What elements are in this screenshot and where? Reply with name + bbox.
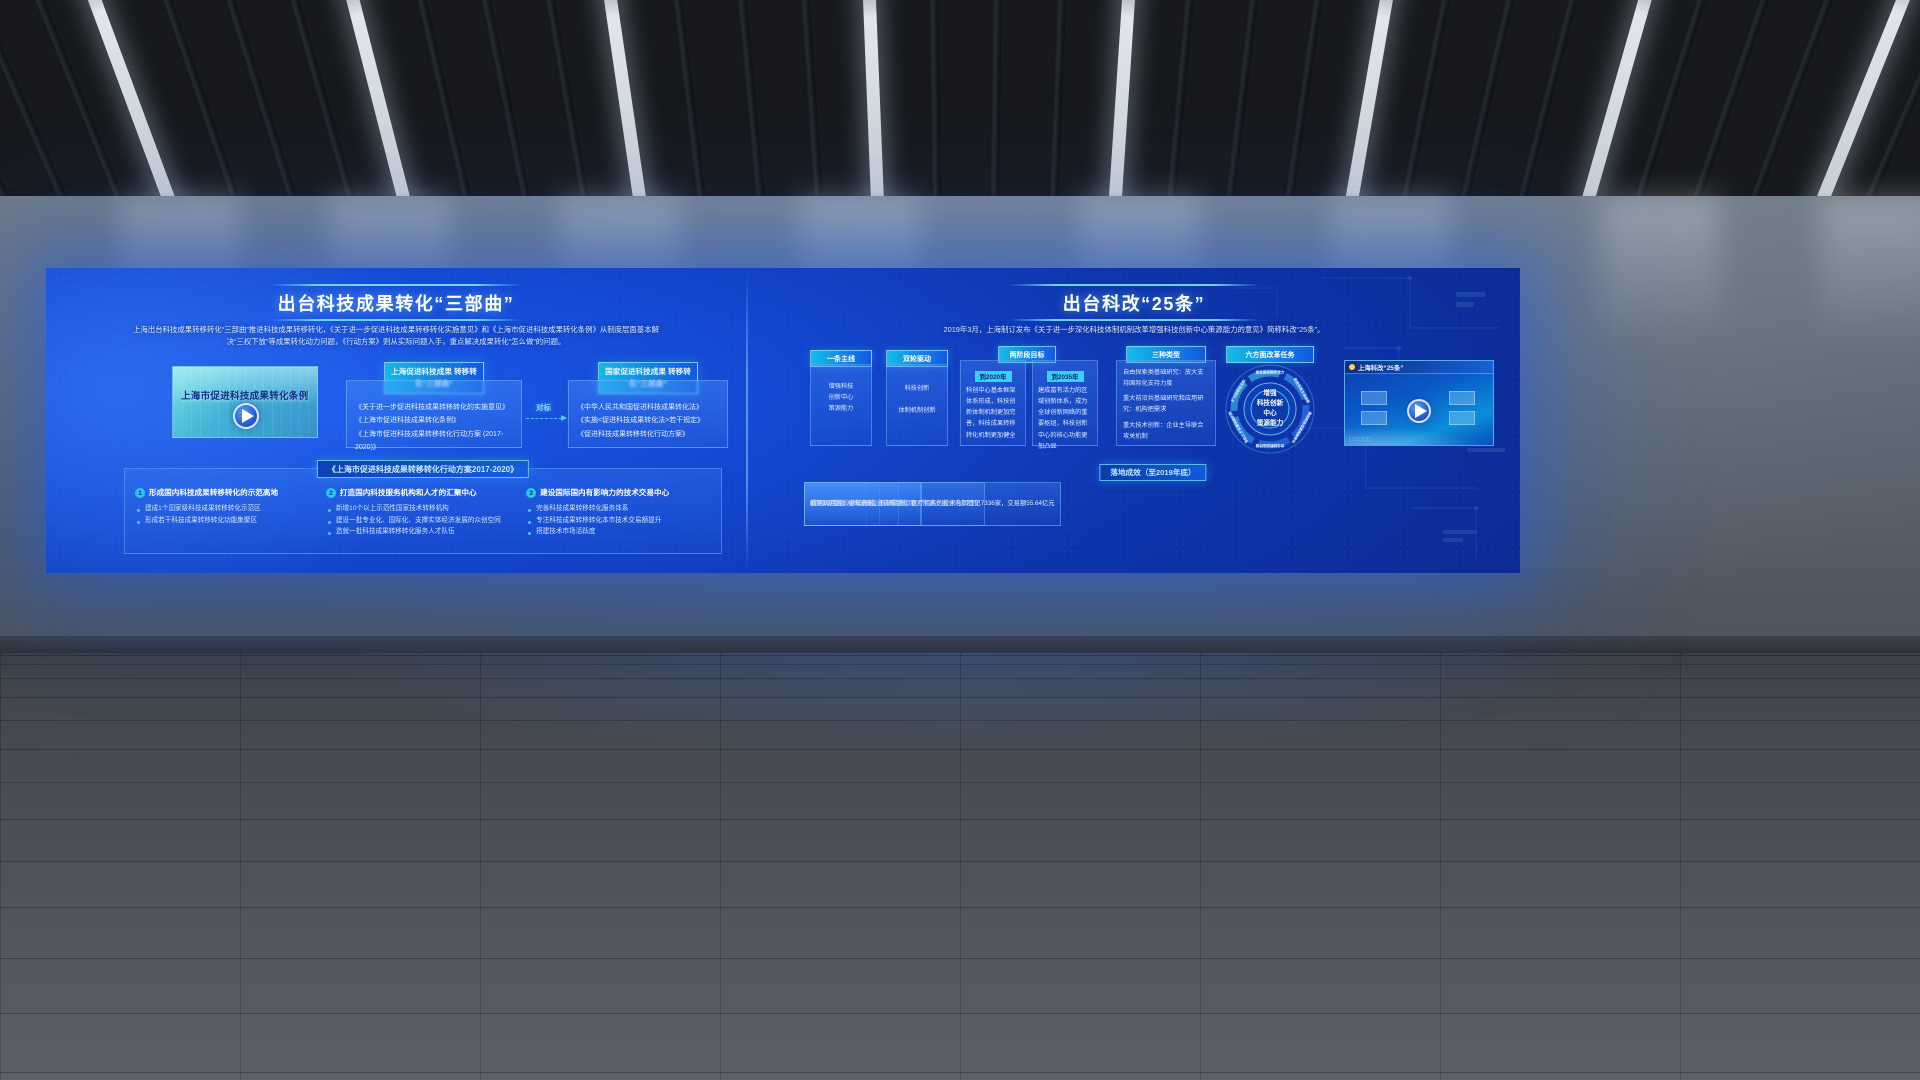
flow-box1-item: 《关于进一步促进科技成果转移转化的实施意见》	[355, 401, 513, 414]
achievements-chip: 落地成效（至2019年底）	[1099, 464, 1206, 481]
flow-box2-item: 《中华人民共和国促进科技成果转化法》	[577, 401, 719, 414]
title-rule-bottom	[271, 319, 521, 321]
video-chip-left2	[1361, 411, 1387, 425]
video-chip-right2	[1449, 411, 1475, 425]
three-types-item: 自由探索类基础研究：放大支持国际化支持力度	[1123, 367, 1209, 389]
column-box-dual-drive: 科技创新 体制机制创新	[886, 364, 948, 446]
video-corner-mark: ⬚⬚⬚⬚⬚	[1349, 436, 1372, 442]
six-tasks-caption: 六方面改革任务	[1226, 346, 1314, 363]
action-plan-item: 完善科技成果转移转化服务体系	[526, 503, 711, 515]
video-header-bar: 上海科改“25条”	[1345, 361, 1493, 374]
number-badge-icon: 1	[135, 488, 145, 498]
column-head-text: 形成国内科技成果转移转化的示范高地	[149, 488, 278, 497]
three-types-box: 自由探索类基础研究：放大支持国际化支持力度 重大前沿共基础研究和应用研究：机构把…	[1116, 360, 1216, 446]
action-plan-column-head: 2打造国内科技服务机构和人才的汇聚中心	[326, 487, 520, 498]
wall-light-streak	[1600, 196, 1720, 346]
arrow-dashed-line	[526, 418, 562, 419]
video-chip-right	[1449, 391, 1475, 405]
arrow-label-duibiao: 对标	[536, 402, 551, 413]
action-plan-item: 建设一批专业化、国际化、支撑实体经济发展的众创空间	[326, 515, 520, 527]
action-plan-column: 2打造国内科技服务机构和人才的汇聚中心 新增10个以上示范性国家技术转移机构 建…	[326, 487, 520, 538]
right-video-title: 上海科改“25条”	[1358, 363, 1403, 372]
video-chip-left	[1361, 391, 1387, 405]
floor-seam-line	[1440, 652, 1441, 1080]
panel-three-movements: 出台科技成果转化“三部曲” 上海出台科技成果转移转化“三部曲”推进科技成果转移转…	[46, 268, 746, 573]
flow-box2: 《中华人民共和国促进科技成果转化法》 《实施<促进科技成果转化法>若干规定》 《…	[568, 380, 728, 448]
floor-seam-line	[1200, 652, 1201, 1080]
floor	[0, 652, 1920, 1080]
floor-seam-line	[720, 652, 721, 1080]
floor-seam-line	[0, 652, 1, 1080]
right-panel-title: 出台科改“25条”	[748, 286, 1520, 319]
arrow-head-icon	[561, 415, 567, 421]
play-triangle-icon	[242, 409, 254, 423]
flow-box2-item: 《实施<促进科技成果转化法>若干规定》	[577, 414, 719, 427]
stage-text-2035: 建成富有活力的区域创新体系，成为全球创新网络的重要枢纽，科技创新中心的核心功能更…	[1038, 385, 1092, 452]
wall-light-streak	[1820, 196, 1920, 346]
action-plan-item: 形成若干科技成果转移转化功能集聚区	[135, 515, 320, 527]
floor-seam-line	[480, 652, 481, 1080]
flow-box2-item: 《促进科技成果转移转化行动方案》	[577, 428, 719, 441]
logo-dot-icon	[1349, 364, 1355, 370]
number-badge-icon: 3	[526, 488, 536, 498]
ring-center-label: 增强 科技创新 中心 策源能力	[1244, 389, 1296, 429]
action-plan-item: 造就一批科技成果转移转化服务人才队伍	[326, 526, 520, 538]
video-title-text: 上海市促进科技成果转化条例	[181, 388, 308, 402]
floor-seam-line	[1680, 652, 1681, 1080]
stage-tag-2020: 到2020年	[975, 371, 1012, 382]
action-plan-item: 专注科技成果转移转化本市技术交易额提升	[526, 515, 711, 527]
action-plan-item: 新增10个以上示范性国家技术转移机构	[326, 503, 520, 515]
panel-25-measures: 出台科改“25条” 2019年3月，上海制订发布《关于进一步深化科技体制机制改革…	[748, 268, 1520, 573]
action-plan-item: 建成1个国家级科技成果转移转化示范区	[135, 503, 320, 515]
flow-box1-item: 《上海市促进科技成果转移转化行动方案 (2017-2020)》	[355, 428, 513, 455]
achievements-section: 落地成效（至2019年底） 出台配套政策11个 32所高校、104个科研院所、3…	[804, 464, 1502, 556]
exhibition-hall-scene: 出台科技成果转化“三部曲” 上海出台科技成果转移转化“三部曲”推进科技成果转移转…	[0, 0, 1920, 1080]
flow-box1-item: 《上海市促进科技成果转化条例》	[355, 414, 513, 427]
stage-card-2020: 到2020年 科创中心基本框架体系形成，科技创新体制机制更加完善，科技成果转移转…	[960, 360, 1026, 446]
action-plan-column-head: 3建设国际国内有影响力的技术交易中心	[526, 487, 711, 498]
led-display-wall[interactable]: 出台科技成果转化“三部曲” 上海出台科技成果转移转化“三部曲”推进科技成果转移转…	[46, 268, 1520, 573]
achievement-card: 截至10月底，全年表彰、科研院所、医疗机构的技术合同登记7336家，交易额55.…	[804, 482, 1061, 526]
title-rule-bottom	[1009, 319, 1259, 321]
video-card-25-measures[interactable]: 上海科改“25条” ⬚⬚⬚⬚⬚	[1344, 360, 1494, 446]
video-card-regulation[interactable]: 上海市促进科技成果转化条例	[172, 366, 318, 438]
column-head-text: 建设国际国内有影响力的技术交易中心	[540, 488, 669, 497]
floor-seam-line	[960, 652, 961, 1080]
column-body-main-line: 增强科技 创新中心 策源能力	[811, 365, 871, 430]
left-panel-description: 上海出台科技成果转移转化“三部曲”推进科技成果转移转化，《关于进一步促进科技成果…	[46, 324, 746, 348]
left-panel-title: 出台科技成果转化“三部曲”	[46, 286, 746, 319]
column-box-main-line: 增强科技 创新中心 策源能力	[810, 364, 872, 446]
play-triangle-icon-right	[1415, 404, 1427, 418]
action-plan-column: 3建设国际国内有影响力的技术交易中心 完善科技成果转移转化服务体系 专注科技成果…	[526, 487, 711, 538]
play-button-icon-right[interactable]	[1407, 399, 1431, 423]
action-plan-column: 1形成国内科技成果转移转化的示范高地 建成1个国家级科技成果转移转化示范区 形成…	[135, 487, 320, 538]
floor-seam-line	[240, 652, 241, 1080]
column-head-text: 打造国内科技服务机构和人才的汇聚中心	[340, 488, 477, 497]
action-plan-item: 搭建技术市场活跃度	[526, 526, 711, 538]
stage-text-2020: 科创中心基本框架体系形成，科技创新体制机制更加完善，科技成果转移转化机制更加健全	[966, 385, 1020, 441]
right-panel-description: 2019年3月，上海制订发布《关于进一步深化科技体制机制改革增强科技创新中心策源…	[748, 324, 1520, 336]
three-types-item: 重大技术创新：企业主导联合攻关机制	[1123, 420, 1209, 442]
action-plan-column-head: 1形成国内科技成果转移转化的示范高地	[135, 487, 320, 498]
stage-tag-2035: 到2035年	[1047, 371, 1084, 382]
flow-box1: 《关于进一步促进科技成果转移转化的实施意见》 《上海市促进科技成果转化条例》 《…	[346, 380, 522, 448]
column-body-dual-drive: 科技创新 体制机制创新	[887, 365, 947, 434]
stage-card-2035: 到2035年 建成富有活力的区域创新体系，成为全球创新网络的重要枢纽，科技创新中…	[1032, 360, 1098, 446]
play-button-icon[interactable]	[233, 403, 259, 429]
six-tasks-ring-diagram: 增强 科技创新 中心 策源能力 激发高校院所活力促进各类主体创新推动科技成果转移…	[1214, 362, 1326, 456]
three-types-item: 重大前沿共基础研究和应用研究：机构把需求	[1123, 393, 1209, 415]
action-plan-card: 《上海市促进科技成果转移转化行动方案2017-2020》 1形成国内科技成果转移…	[124, 468, 722, 554]
action-plan-chip: 《上海市促进科技成果转移转化行动方案2017-2020》	[317, 460, 529, 478]
number-badge-icon: 2	[326, 488, 336, 498]
